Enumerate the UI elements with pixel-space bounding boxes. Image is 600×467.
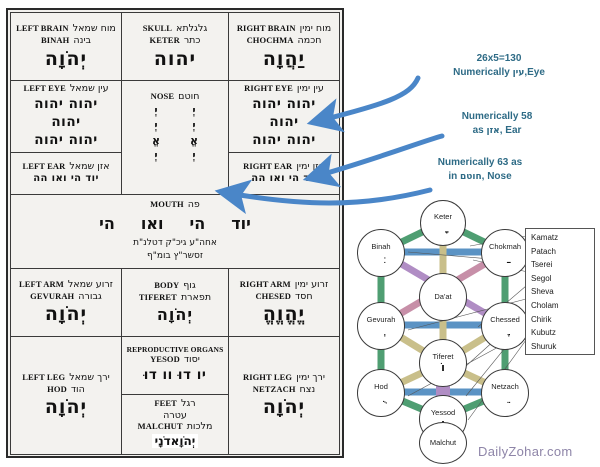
right-leg-tetragrammaton: יְהֹוָה [230,397,338,418]
sephirah-malchut[interactable]: Malchut [419,422,467,464]
mouth-letter-3: ואו [141,214,164,233]
left-brain-tetragrammaton: יְהֹוָה [12,49,120,70]
vowel-sheva: Sheva [531,285,594,299]
nose-right-2: יְ [190,120,198,131]
chochma-eng: CHOCHMA [247,35,294,46]
annotation-eye-line1: 26x5=130 [404,52,594,66]
sephirah-netzach[interactable]: Netzach ֵ [481,369,529,417]
annotation-eye-line2: Numerically עין,Eye [404,66,594,80]
left-brain-heb: מוח שמאל [73,23,116,35]
netzach-heb: נצח [300,384,316,396]
annotation-eye: 26x5=130 Numerically עין,Eye [404,52,594,79]
sephirah-hod-label: Hod [374,383,388,391]
yesod-eng: YESOD [150,354,180,365]
vowel-patach: Patach [531,245,594,259]
left-eye-heb: עין שמאל [70,83,109,95]
cell-nose: NOSEחוטם יְ יְ אֱ יְ יְ יְ אֱ יְ [122,81,229,195]
right-brain-eng: RIGHT BRAIN [237,23,296,34]
left-ear-heb: אזן שמאל [69,161,109,173]
right-eye-eng: RIGHT EYE [244,83,293,94]
skull-heb: גלגלתא [176,23,207,35]
body-heb: גוף [183,280,196,292]
binah-heb: בינה [73,35,91,47]
sephirah-binah-label: Binah [371,243,390,251]
sephirah-hod[interactable]: Hod ֻ [357,369,405,417]
mouth-letter-4: הי [99,214,115,233]
right-brain-tetragrammaton: יַהֲוָה [230,49,338,70]
sephirah-gevurah[interactable]: Gevurah ְ [357,302,405,350]
cell-left-leg: LEFT LEGירך שמאל HODהוד יְהֹוָה [11,336,122,454]
netzach-eng: NETZACH [253,384,296,395]
keter-eng: KETER [150,35,180,46]
cell-reproductive-organs: REPRODUCTIVE ORGANS YESODיסוד יו דוּ וו … [122,336,229,394]
right-arm-eng: RIGHT ARM [240,279,291,290]
left-eye-line-3: יהוה יהוה [12,131,120,149]
mouth-heb: פה [188,199,200,211]
right-eye-heb: עין ימין [297,83,324,95]
annotation-nose: Numerically 63 as in חוטם, Nose [390,156,570,183]
sephirah-tiferet-vowel: וֹ [441,362,445,373]
malchut-heb: מלכות [187,421,213,433]
sephirah-chessed[interactable]: Chessed ֶ [481,302,529,350]
chesed-eng: CHESED [255,291,291,302]
gevurah-eng: GEVURAH [30,291,74,302]
annotation-ear-post: , Ear [500,125,522,136]
dailyzohar-watermark: DailyZohar.com [478,444,573,459]
skull-eng: SKULL [143,23,172,34]
cell-right-brain: RIGHT BRAINמוח ימין CHOCHMAחכמה יַהֲוָה [229,13,340,81]
annotation-nose-post: , Nose [482,171,512,182]
nose-eng: NOSE [151,91,175,102]
sephirah-keter[interactable]: Keter ָ [420,200,466,246]
sephirah-tiferet[interactable]: Tiferet וֹ [419,339,467,387]
left-ear-eng: LEFT EAR [22,161,65,172]
hod-eng: HOD [47,384,67,395]
annotation-nose-hebrew: חוטם [460,172,482,182]
nose-left-2: יְ [152,120,160,131]
atarah-heb: עטרה [123,410,227,421]
annotation-ear-hebrew: אזן [486,126,499,136]
sephirah-keter-label: Keter [434,213,452,221]
right-leg-eng: RIGHT LEG [243,372,292,383]
right-ear-heb: אזן ימין [296,161,325,173]
vowel-segol: Segol [531,272,594,286]
right-arm-heb: זרוע ימין [295,279,329,291]
sephirah-netzach-label: Netzach [491,383,519,391]
body-eng: BODY [154,280,179,291]
skull-tetragrammaton: יהוה [123,49,227,70]
vowel-kubutz: Kubutz [531,326,594,340]
nose-column-right: יְ יְ אֱ יְ [190,105,198,161]
nose-right-4: יְ [190,150,198,161]
annotation-nose-pre: in [448,171,460,182]
sephirah-chokmah-label: Chokmah [489,243,521,251]
cell-left-ear: LEFT EARאזן שמאל יוד הי ואו הה [11,152,122,194]
left-arm-eng: LEFT ARM [19,279,64,290]
annotation-eye-post: ,Eye [524,67,545,78]
vowel-cholam: Cholam [531,299,594,313]
partzuf-table: LEFT BRAINמוח שמאל BINAHבינה יְהֹוָה SKU… [6,8,344,458]
left-leg-heb: ירך שמאל [69,372,110,384]
cell-mouth: MOUTHפה הי ואו הי יוד אחה"ע גיכ"ק דטלנ"ת… [11,194,340,268]
left-eye-eng: LEFT EYE [23,83,65,94]
left-brain-eng: LEFT BRAIN [16,23,69,34]
nose-right-1: יְ [190,105,198,116]
vowel-name-legend: Kamatz Patach Tserei Segol Sheva Cholam … [525,228,595,355]
annotation-ear-line1: Numerically 58 [412,110,582,124]
malchut-eng: MALCHUT [138,421,183,432]
sephirah-daat[interactable]: Da'at [419,273,467,321]
feet-eng: FEET [154,398,177,409]
annotation-eye-hebrew: עין [513,68,525,78]
left-eye-line-2: יהוה [12,113,120,131]
body-tetragrammaton: יְהֹוָה [123,306,227,324]
sephirah-chokmah[interactable]: Chokmah ַ [481,229,529,277]
hod-heb: הוד [71,384,85,396]
mouth-letter-2: הי [190,214,206,233]
sephirah-tiferet-label: Tiferet [433,353,454,361]
right-brain-heb: מוח ימין [300,23,332,35]
right-leg-heb: ירך ימין [296,372,325,384]
left-arm-tetragrammaton: יְהֹוָה [12,304,120,325]
feet-heb: רגל [181,398,196,410]
yesod-eng-title: REPRODUCTIVE ORGANS [123,345,227,354]
cell-feet: FEETרגל עטרה MALCHUTמלכות יְהֹוָאדֹנָי [122,394,229,454]
nose-right-3: אֱ [190,135,198,146]
annotation-ear-line2: as אזן, Ear [412,124,582,138]
right-eye-line-3: יהוה יהוה [230,131,338,149]
mouth-extra-line-1: אחה"ע גיכ"ק דטלנ"ת [12,237,338,250]
right-ear-eng: RIGHT EAR [243,161,292,172]
annotation-nose-line2: in חוטם, Nose [390,170,570,184]
sephirah-daat-label: Da'at [434,293,451,301]
right-eye-line-2: יהוה [230,113,338,131]
mouth-letter-1: יוד [231,214,251,233]
left-ear-letters: יוד הי ואו הה [12,172,120,185]
annotation-eye-pre: Numerically [453,67,512,78]
left-eye-line-1: יהוה יהוה [12,95,120,113]
binah-eng: BINAH [41,35,69,46]
vowel-shuruk: Shuruk [531,340,594,354]
annotation-nose-line1: Numerically 63 as [390,156,570,170]
tree-of-life-diagram: Keter ָ Binah ִּ Chokmah ַ Da'at Gevurah… [348,200,538,450]
left-arm-heb: זרוע שמאל [68,279,113,291]
tiferet-heb: תפארת [181,292,211,304]
vowel-tserei: Tserei [531,258,594,272]
gevurah-heb: גבורה [78,291,102,303]
vowel-kamatz: Kamatz [531,231,594,245]
chochma-heb: חכמה [298,35,322,47]
mouth-eng: MOUTH [150,199,184,210]
yesod-heb: יסוד [184,354,200,366]
cell-right-eye: RIGHT EYEעין ימין יהוה יהוה יהוה יהוה יה… [229,81,340,153]
right-arm-tetragrammaton: יֱהֱוֱהֱ [230,304,338,325]
zohar-partzuf-infographic: LEFT BRAINמוח שמאל BINAHבינה יְהֹוָה SKU… [0,0,600,467]
sephirah-binah[interactable]: Binah ִּ [357,229,405,277]
mouth-extra-line-2: זסשר"ץ בומ"ף [12,250,338,263]
right-ear-letters: יוד הי ואו הה [230,172,338,185]
sephirah-chessed-label: Chessed [490,316,520,324]
sephirah-malchut-label: Malchut [430,439,456,447]
vowel-chirik: Chirik [531,313,594,327]
nose-column-left: יְ יְ אֱ יְ [152,105,160,161]
keter-heb: כתר [184,35,201,47]
nose-left-4: יְ [152,150,160,161]
cell-left-arm: LEFT ARMזרוע שמאל GEVURAHגבורה יְהֹוָה [11,268,122,336]
cell-skull: SKULLגלגלתא KETERכתר יהוה [122,13,229,81]
nose-left-1: יְ [152,105,160,116]
annotation-ear: Numerically 58 as אזן, Ear [412,110,582,137]
chesed-heb: חסד [295,291,313,303]
left-leg-tetragrammaton: יְהֹוָה [12,397,120,418]
tiferet-eng: TIFERET [139,292,177,303]
cell-left-brain: LEFT BRAINמוח שמאל BINAHבינה יְהֹוָה [11,13,122,81]
sephirah-yessod-label: Yessod [431,409,455,417]
yesod-letters: יו דוּ וו דוּ [123,366,227,384]
cell-left-eye: LEFT EYEעין שמאל יהוה יהוה יהוה יהוה יהו… [11,81,122,153]
nose-left-3: אֱ [152,135,160,146]
nose-letter-grid: יְ יְ אֱ יְ יְ יְ אֱ יְ [123,105,227,161]
right-eye-line-1: יהוה יהוה [230,95,338,113]
cell-right-arm: RIGHT ARMזרוע ימין CHESEDחסד יֱהֱוֱהֱ [229,268,340,336]
annotation-ear-pre: as [473,125,487,136]
nose-heb: חוטם [178,91,199,103]
cell-right-leg: RIGHT LEGירך ימין NETZACHנצח יְהֹוָה [229,336,340,454]
cell-body: BODYגוף TIFERETתפארת יְהֹוָה [122,268,229,336]
cell-right-ear: RIGHT EARאזן ימין יוד הי ואו הה [229,152,340,194]
sephirah-gevurah-label: Gevurah [367,316,396,324]
malchut-divine-name: יְהֹוָאדֹנָי [152,434,199,448]
mouth-letters: הי ואו הי יוד [12,214,338,233]
left-leg-eng: LEFT LEG [22,372,65,383]
